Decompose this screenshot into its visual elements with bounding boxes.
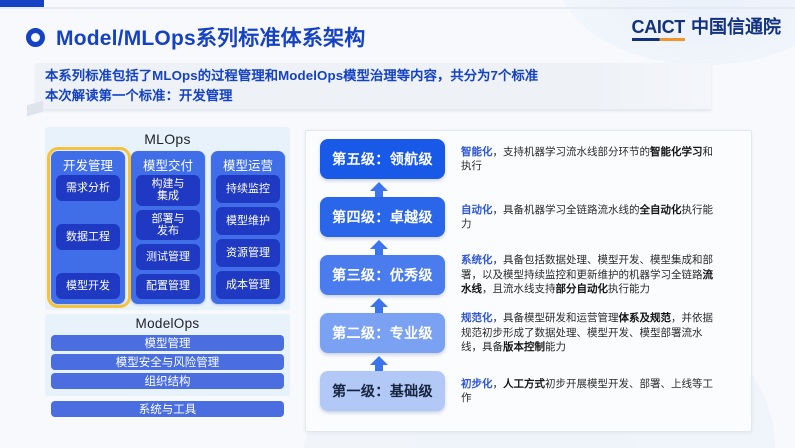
level-desc-emphasis: 部分自动化 <box>556 283 609 295</box>
mlops-group: MLOps 开发管理需求分析数据工程模型开发模型交付构建与 集成部署与 发布测试… <box>45 127 290 310</box>
mlops-item[interactable]: 数据工程 <box>56 224 120 250</box>
mlops-column-title: 模型交付 <box>131 155 205 174</box>
logo-cn-text: 中国信通院 <box>691 18 781 41</box>
modelops-bars: 模型管理模型安全与风险管理组织结构 <box>51 335 284 389</box>
maturity-level-description: 自动化，具备机器学习全链路流水线的全自动化执行能力 <box>461 203 723 232</box>
mlops-item[interactable]: 测试管理 <box>136 244 200 269</box>
mlops-column[interactable]: 开发管理需求分析数据工程模型开发 <box>51 151 125 304</box>
mlops-item[interactable]: 成本管理 <box>216 271 280 299</box>
maturity-level-row: 第四级：卓越级自动化，具备机器学习全链路流水线的全自动化执行能力 <box>306 194 751 240</box>
level-keyword: 系统化 <box>461 254 493 266</box>
mlops-column[interactable]: 模型交付构建与 集成部署与 发布测试管理配置管理 <box>131 151 205 304</box>
maturity-level-badge[interactable]: 第四级：卓越级 <box>320 197 445 237</box>
level-desc-part: ，具备模型研发和运营管理 <box>493 312 619 324</box>
mlops-item[interactable]: 部署与 发布 <box>136 210 200 241</box>
level-keyword: 规范化 <box>461 312 493 324</box>
level-desc-part: ，具备机器学习全链路流水线的 <box>493 204 640 216</box>
ring-icon <box>26 28 45 47</box>
level-desc-part: 能力 <box>545 341 566 353</box>
maturity-level-row: 第二级：专业级规范化，具备模型研发和运营管理体系及规范，并依据规范初步形成了数据… <box>306 310 751 356</box>
mlops-item[interactable]: 资源管理 <box>216 239 280 267</box>
left-architecture-panel: MLOps 开发管理需求分析数据工程模型开发模型交付构建与 集成部署与 发布测试… <box>45 127 290 437</box>
level-desc-part: ，支持机器学习流水线部分环节的 <box>493 146 651 158</box>
logo-en-text: CAICT <box>632 18 686 41</box>
level-desc-part: 执行能力 <box>608 283 650 295</box>
maturity-level-badge[interactable]: 第三级：优秀级 <box>320 255 445 295</box>
level-desc-emphasis: 人工方式 <box>503 378 545 390</box>
level-desc-emphasis: 体系及规范 <box>619 312 672 324</box>
maturity-level-badge[interactable]: 第五级：领航级 <box>320 139 445 179</box>
level-desc-emphasis: 版本控制 <box>503 341 545 353</box>
maturity-level-badge[interactable]: 第二级：专业级 <box>320 313 445 353</box>
modelops-group: ModelOps 模型管理模型安全与风险管理组织结构 <box>45 314 290 396</box>
maturity-level-description: 初步化，人工方式初步开展模型开发、部署、上线等工作 <box>461 377 723 406</box>
level-keyword: 自动化 <box>461 204 493 216</box>
mlops-column-items: 持续监控模型维护资源管理成本管理 <box>216 175 280 299</box>
top-left-accent-bar <box>0 0 44 7</box>
mlops-item[interactable]: 模型开发 <box>56 273 120 299</box>
maturity-level-badge[interactable]: 第一级：基础级 <box>320 371 445 411</box>
slide-root: Model/MLOps系列标准体系架构 CAICT 中国信通院 本系列标准包括了… <box>0 0 795 448</box>
mlops-column-items: 需求分析数据工程模型开发 <box>56 175 120 299</box>
modelops-bar[interactable]: 模型管理 <box>51 335 284 351</box>
level-keyword: 智能化 <box>461 146 493 158</box>
maturity-level-row: 第一级：基础级初步化，人工方式初步开展模型开发、部署、上线等工作 <box>306 368 751 414</box>
level-keyword: 初步化 <box>461 378 493 390</box>
top-divider-rule <box>0 7 795 9</box>
modelops-label: ModelOps <box>45 316 290 331</box>
mlops-item[interactable]: 构建与 集成 <box>136 175 200 206</box>
mlops-item[interactable]: 持续监控 <box>216 175 280 203</box>
page-title-row: Model/MLOps系列标准体系架构 <box>26 22 365 52</box>
level-desc-part: ，且流水线支持 <box>482 283 556 295</box>
mlops-item[interactable]: 配置管理 <box>136 274 200 299</box>
modelops-bar[interactable]: 组织结构 <box>51 373 284 389</box>
level-desc-emphasis: 智能化学习 <box>650 146 703 158</box>
maturity-level-description: 规范化，具备模型研发和运营管理体系及规范，并依据规范初步形成了数据处理、模型开发… <box>461 311 723 354</box>
mlops-column-title: 开发管理 <box>51 155 125 174</box>
level-desc-part: ，具备包括数据处理、模型开发、模型集成和部署，以及模型持续监控和更新维护的机器学… <box>461 254 713 280</box>
maturity-level-description: 系统化，具备包括数据处理、模型开发、模型集成和部署，以及模型持续监控和更新维护的… <box>461 253 723 296</box>
page-title: Model/MLOps系列标准体系架构 <box>56 22 365 52</box>
modelops-bar[interactable]: 模型安全与风险管理 <box>51 354 284 370</box>
mlops-label: MLOps <box>45 131 290 147</box>
maturity-level-row: 第五级：领航级智能化，支持机器学习流水线部分环节的智能化学习和执行 <box>306 136 751 182</box>
mlops-item[interactable]: 模型维护 <box>216 207 280 235</box>
mlops-column-title: 模型运营 <box>211 155 285 174</box>
level-desc-part: ， <box>493 378 504 390</box>
mlops-column-items: 构建与 集成部署与 发布测试管理配置管理 <box>136 175 200 299</box>
mlops-columns: 开发管理需求分析数据工程模型开发模型交付构建与 集成部署与 发布测试管理配置管理… <box>51 151 285 304</box>
level-desc-emphasis: 全自动化 <box>640 204 682 216</box>
maturity-level-row: 第三级：优秀级系统化，具备包括数据处理、模型开发、模型集成和部署，以及模型持续监… <box>306 252 751 298</box>
caict-logo: CAICT 中国信通院 <box>632 18 782 41</box>
maturity-level-panel: 第五级：领航级智能化，支持机器学习流水线部分环节的智能化学习和执行第四级：卓越级… <box>305 130 752 432</box>
mlops-column[interactable]: 模型运营持续监控模型维护资源管理成本管理 <box>211 151 285 304</box>
maturity-level-description: 智能化，支持机器学习流水线部分环节的智能化学习和执行 <box>461 145 723 174</box>
system-and-tools-bar[interactable]: 系统与工具 <box>51 401 284 417</box>
subtitle-text: 本系列标准包括了MLOps的过程管理和ModelOps模型治理等内容，共分为7个… <box>45 66 705 106</box>
mlops-item[interactable]: 需求分析 <box>56 175 120 201</box>
